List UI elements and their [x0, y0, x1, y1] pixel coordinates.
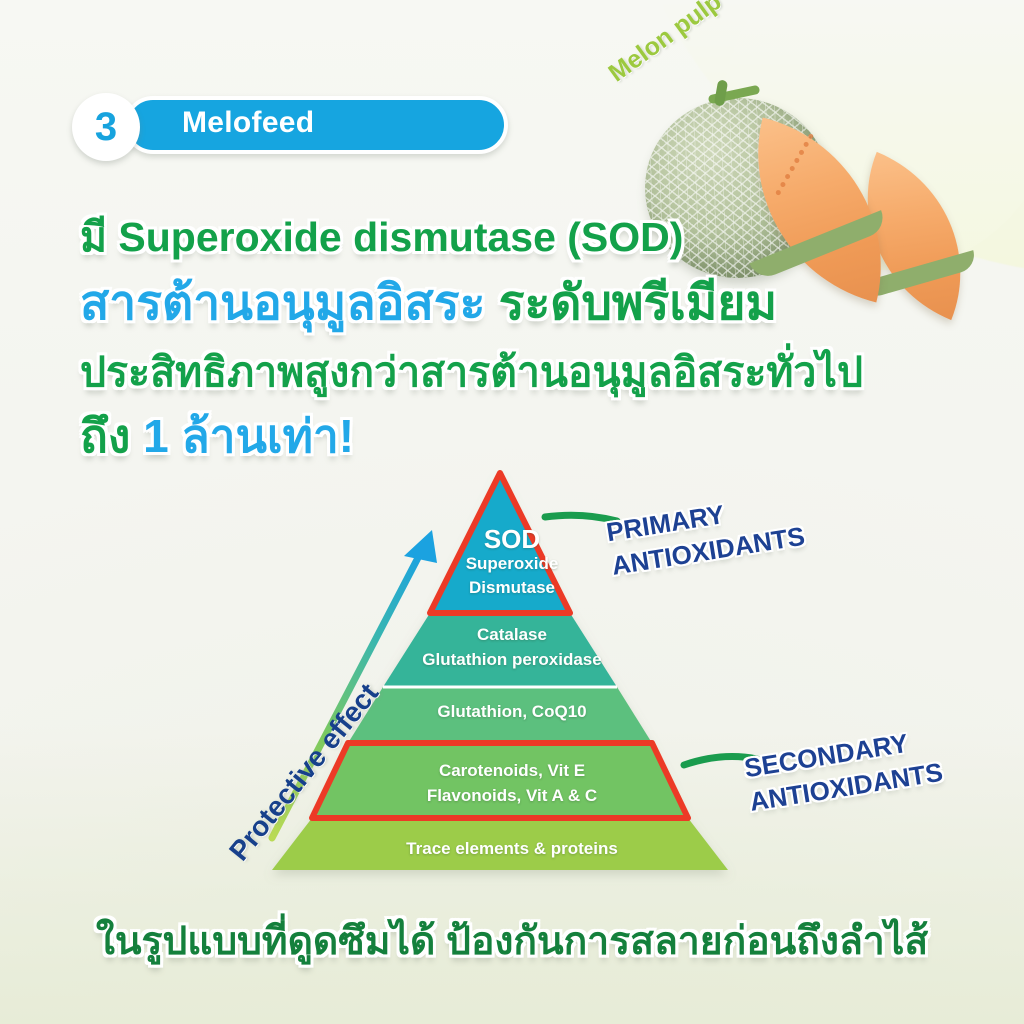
pyramid-tier-4-shape	[312, 743, 688, 818]
antioxidant-pyramid-chart	[0, 0, 1024, 1024]
pyramid-tier-3-shape	[348, 687, 652, 743]
footer-caption: ในรูปแบบที่ดูดซึมได้ ป้องกันการสลายก่อนถ…	[0, 910, 1024, 972]
pyramid-tier-5-shape	[272, 818, 728, 870]
pyramid-tier-1-shape	[430, 473, 570, 613]
pyramid-tier-2-shape	[383, 613, 617, 687]
infographic-canvas: Melon pulp Melofeed 3 มี Superoxide dism…	[0, 0, 1024, 1024]
